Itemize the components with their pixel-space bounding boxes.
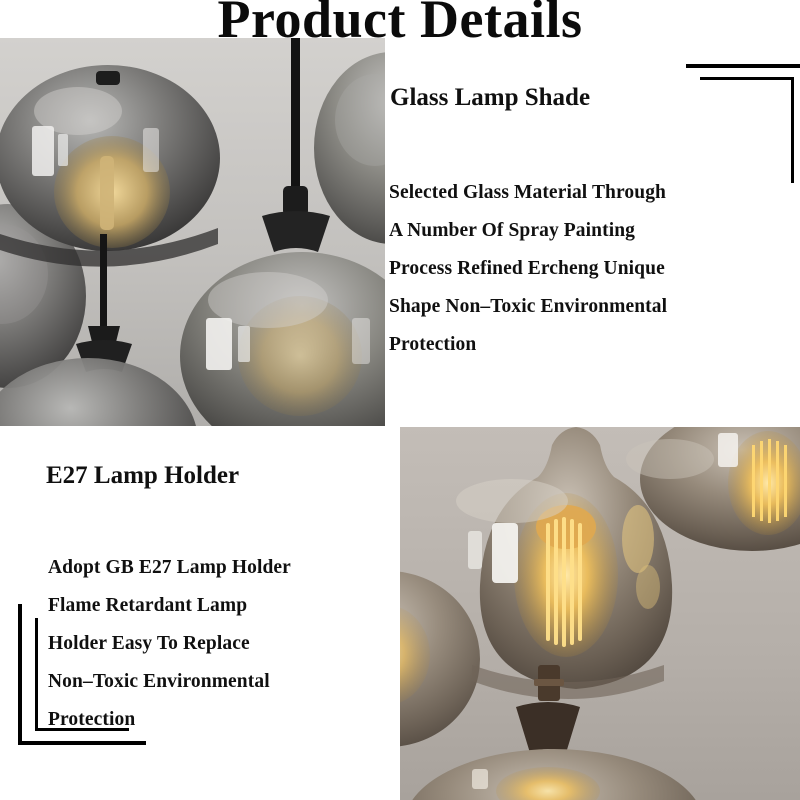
body-line: Process Refined Ercheng Unique	[389, 250, 789, 288]
bottom-left-bracket-inner-vertical	[35, 618, 38, 731]
edison-bulb-illustration	[400, 427, 800, 800]
body-line: A Number Of Spray Painting	[389, 212, 789, 250]
body-line: Protection	[389, 326, 789, 364]
body-line: Non–Toxic Environmental	[48, 663, 398, 701]
top-right-bracket-line-outer	[686, 64, 800, 68]
bottom-left-bracket-outer-vertical	[18, 604, 22, 745]
body-line: Flame Retardant Lamp	[48, 587, 398, 625]
section-body-glass-lamp-shade: Selected Glass Material Through A Number…	[389, 174, 789, 364]
body-line: Shape Non–Toxic Environmental	[389, 288, 789, 326]
body-line: Holder Easy To Replace	[48, 625, 398, 663]
page-title: Product Details	[0, 0, 800, 47]
section-body-e27-lamp-holder: Adopt GB E27 Lamp Holder Flame Retardant…	[48, 549, 398, 739]
section-heading-e27-lamp-holder: E27 Lamp Holder	[46, 461, 239, 491]
product-details-page: Product Details	[0, 0, 800, 800]
bottom-left-bracket-outer-horizontal	[18, 741, 146, 745]
body-line: Protection	[48, 701, 398, 739]
pendant-cluster-illustration	[0, 38, 385, 426]
product-photo-edison-bulb-closeup	[400, 427, 800, 800]
body-line: Selected Glass Material Through	[389, 174, 789, 212]
top-right-bracket-line-inner	[700, 77, 794, 80]
product-photo-pendant-cluster	[0, 38, 385, 426]
top-right-bracket-vertical	[791, 77, 794, 183]
section-heading-glass-lamp-shade: Glass Lamp Shade	[390, 83, 590, 113]
body-line: Adopt GB E27 Lamp Holder	[48, 549, 398, 587]
